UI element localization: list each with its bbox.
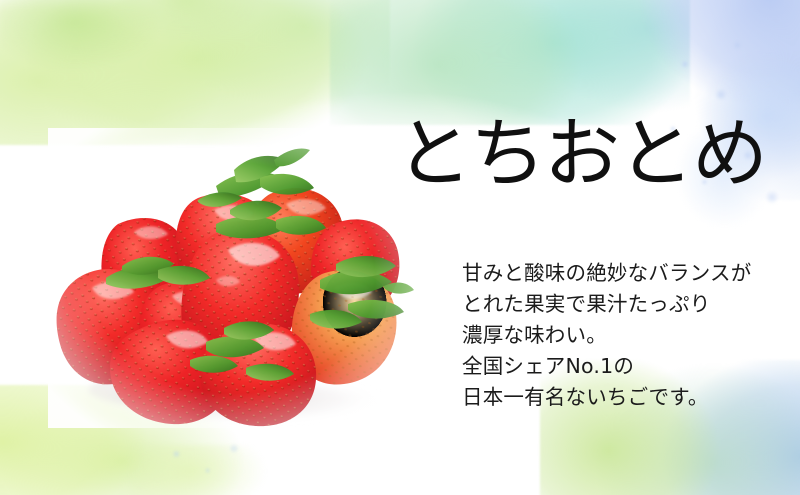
strawberry-product-poster: とちおとめ 甘みと酸味の絶妙なバランスが とれた果実で果汁たっぷり 濃厚な味わい… [0, 0, 800, 495]
description-line-5: 日本一有名ないちごです。 [462, 382, 782, 413]
description-line-4: 全国シェアNo.1の [462, 351, 782, 382]
watercolor-splatter-bottom [150, 432, 270, 487]
strawberry-photo [48, 128, 418, 428]
watercolor-wash-bottom-left-2 [130, 445, 330, 495]
description-line-3: 濃厚な味わい。 [462, 320, 782, 351]
watercolor-wash-top-left-2 [0, 0, 300, 120]
product-title: とちおとめ [396, 116, 766, 192]
description-line-2: とれた果実で果汁たっぷり [462, 289, 782, 320]
watercolor-wash-top-left [0, 0, 390, 145]
watercolor-wash-top-center [330, 0, 690, 125]
product-description: 甘みと酸味の絶妙なバランスが とれた果実で果汁たっぷり 濃厚な味わい。 全国シェ… [462, 258, 782, 413]
description-line-1: 甘みと酸味の絶妙なバランスが [462, 258, 782, 289]
